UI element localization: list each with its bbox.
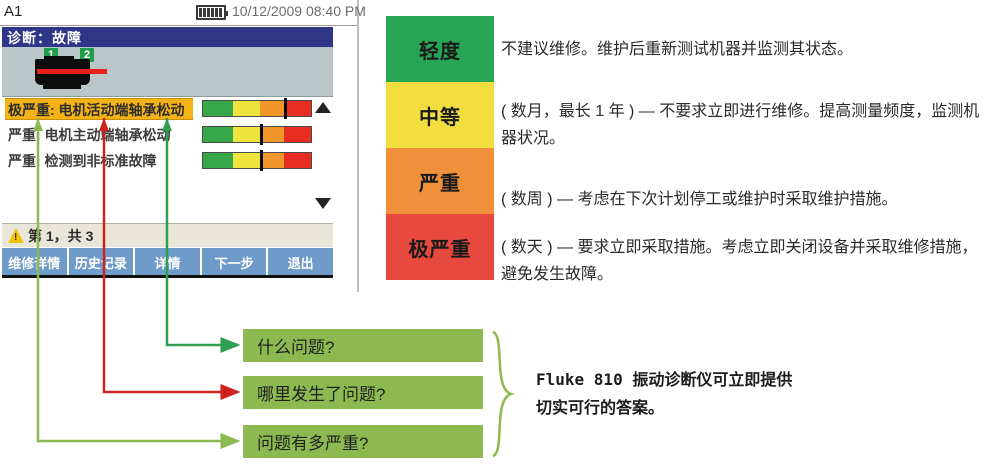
- device-status-bar: A1 10/12/2009 08:40 PM: [0, 0, 357, 26]
- severity-bar: [202, 152, 312, 169]
- exit-button[interactable]: 退出: [268, 248, 333, 275]
- machine-graphic-pane: 1 2: [2, 47, 333, 97]
- legend-description-moderate: ( 数月，最长 1 年 ) — 不要求立即进行维修。提高测量频度，监测机器状况。: [501, 98, 983, 152]
- repair-details-button[interactable]: 维修详情: [2, 248, 69, 275]
- caption-line-2: 切实可行的答案。: [536, 394, 956, 422]
- legend-cell-serious: 严重: [386, 148, 494, 214]
- callout-how-severe: 问题有多严重?: [243, 425, 483, 458]
- timestamp-label: 10/12/2009 08:40 PM: [232, 3, 366, 19]
- warning-triangle-icon: [8, 228, 24, 243]
- legend-description-slight: 不建议维修。维护后重新测试机器并监测其状态。: [501, 36, 983, 63]
- fluke-device-screen: A1 10/12/2009 08:40 PM 诊断：故障 1 2 极严重: 电机…: [0, 0, 359, 292]
- legend-cell-slight: 轻度: [386, 16, 494, 82]
- legend-cell-moderate: 中等: [386, 82, 494, 148]
- table-row[interactable]: 极严重: 电机活动端轴承松动: [2, 98, 333, 121]
- next-button[interactable]: 下一步: [202, 248, 269, 275]
- page-title: 诊断：故障: [2, 27, 333, 47]
- severity-marker: [260, 150, 263, 171]
- callout-what-problem: 什么问题?: [243, 329, 483, 362]
- motor-foot-shape: [43, 84, 81, 89]
- grouping-brace: [489, 330, 519, 458]
- triangle-up-icon[interactable]: [315, 102, 331, 113]
- motor-shaft-line: [37, 69, 107, 74]
- machine-id-label: A1: [4, 3, 22, 20]
- legend-description-extreme: ( 数天 ) — 要求立即采取措施。考虑立即关闭设备并采取维修措施，避免发生故障…: [501, 234, 983, 288]
- severity-legend: 轻度 中等 严重 极严重: [386, 16, 494, 280]
- severity-bar: [202, 126, 312, 143]
- fault-label: 极严重: 电机活动端轴承松动: [5, 98, 193, 120]
- fault-label: 严重: 电机主动端轴承松动: [5, 124, 193, 146]
- callout-where-problem: 哪里发生了问题?: [243, 376, 483, 409]
- severity-marker: [284, 98, 287, 119]
- legend-description-serious: ( 数周 ) — 考虑在下次计划停工或维护时采取维护措施。: [501, 186, 983, 213]
- caption-line-1: Fluke 810 振动诊断仪可立即提供: [536, 366, 956, 394]
- legend-cell-extreme: 极严重: [386, 214, 494, 280]
- history-button[interactable]: 历史记录: [69, 248, 136, 275]
- table-row[interactable]: 严重: 电机主动端轴承松动: [2, 124, 333, 147]
- table-row[interactable]: 严重: 检测到非标准故障: [2, 150, 333, 173]
- triangle-down-icon[interactable]: [315, 198, 331, 209]
- details-button[interactable]: 详情: [135, 248, 202, 275]
- battery-full-icon: [196, 5, 226, 20]
- page-counter-label: 第 1，共 3: [28, 226, 93, 246]
- severity-marker: [260, 124, 263, 145]
- status-message-bar: 第 1，共 3: [2, 223, 333, 247]
- fault-list[interactable]: 极严重: 电机活动端轴承松动 严重: 电机主动端轴承松动 严重: 检测到非标准故…: [2, 98, 333, 218]
- fault-label: 严重: 检测到非标准故障: [5, 150, 193, 172]
- product-caption: Fluke 810 振动诊断仪可立即提供 切实可行的答案。: [536, 366, 956, 422]
- device-button-bar: 维修详情 历史记录 详情 下一步 退出: [2, 248, 333, 278]
- severity-bar: [202, 100, 312, 117]
